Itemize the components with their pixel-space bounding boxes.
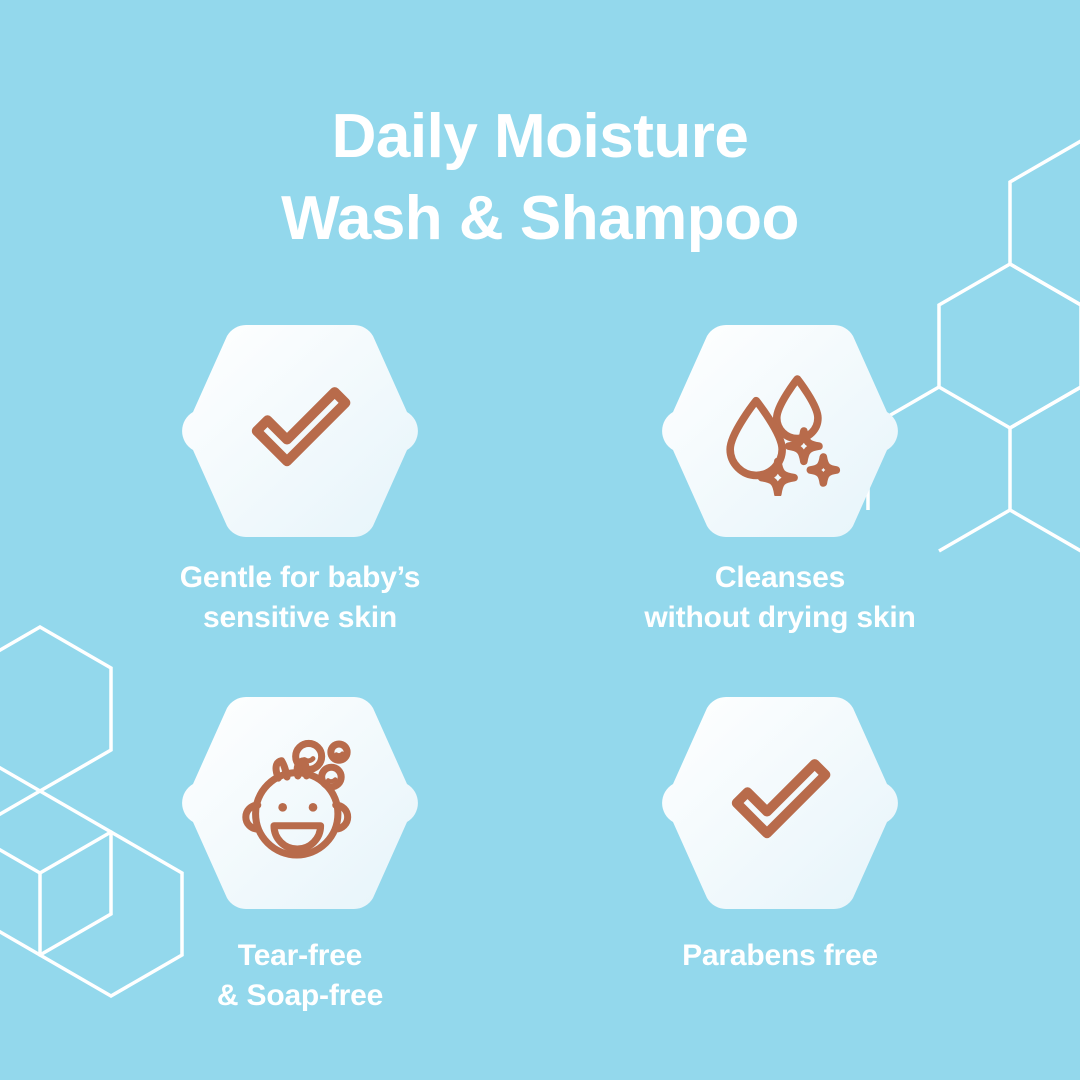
feature-caption: Tear-free & Soap-free	[217, 936, 383, 1016]
water-droplets-sparkle-icon	[715, 366, 845, 496]
hex-card	[182, 318, 418, 544]
decor-hexagon-tr-2	[1010, 387, 1080, 551]
checkmark-icon	[715, 738, 845, 868]
feature-item-parabens-free: Parabens free	[540, 690, 1020, 1016]
feature-item-tear-free: Tear-free & Soap-free	[60, 690, 540, 1016]
hex-card	[662, 690, 898, 916]
feature-caption: Parabens free	[682, 936, 878, 976]
eye-left	[278, 803, 287, 812]
feature-caption: Gentle for baby’s sensitive skin	[180, 558, 421, 638]
baby-face-bubbles-icon	[235, 738, 365, 868]
promo-canvas: Daily Moisture Wash & Shampoo	[0, 0, 1080, 1080]
bubble-medium-shine	[328, 779, 335, 781]
hex-card	[662, 318, 898, 544]
sparkle-2	[810, 457, 836, 483]
hex-card	[182, 690, 418, 916]
feature-item-cleanses: Cleanses without drying skin	[540, 318, 1020, 638]
feature-grid: Gentle for baby’s sensitive skin	[60, 318, 1020, 1016]
smile	[274, 826, 321, 849]
feature-caption: Cleanses without drying skin	[644, 558, 915, 638]
sparkle-3	[762, 461, 795, 494]
baby-head	[256, 772, 338, 854]
droplet-small	[777, 379, 818, 439]
eye-right	[309, 803, 318, 812]
bubble-small-shine	[336, 753, 342, 755]
bubble-small	[331, 744, 347, 760]
checkmark-icon	[235, 366, 365, 496]
feature-item-gentle: Gentle for baby’s sensitive skin	[60, 318, 540, 638]
page-title: Daily Moisture Wash & Shampoo	[0, 96, 1080, 260]
decor-hexagon-bl-stub-1	[0, 832, 40, 873]
